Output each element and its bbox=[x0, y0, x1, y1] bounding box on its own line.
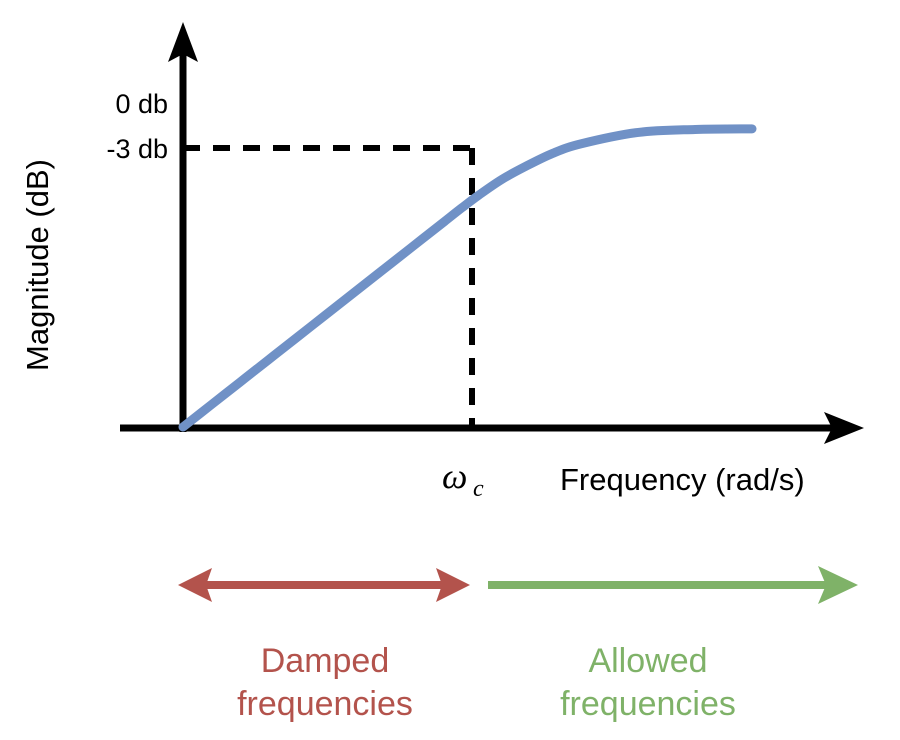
y-tick-label-minus3db: -3 db bbox=[106, 134, 168, 164]
omega-symbol: ω bbox=[442, 456, 467, 496]
y-axis-title: Magnitude (dB) bbox=[20, 159, 55, 371]
damped-label-line1: Damped bbox=[261, 642, 390, 680]
bode-magnitude-figure: 0 db -3 db Magnitude (dB) Frequency (rad… bbox=[0, 0, 900, 740]
allowed-label-line1: Allowed bbox=[588, 642, 707, 680]
omega-subscript: c bbox=[473, 476, 484, 502]
damped-label-line2: frequencies bbox=[237, 685, 413, 723]
y-tick-label-0db: 0 db bbox=[115, 89, 168, 119]
x-axis-title: Frequency (rad/s) bbox=[560, 462, 805, 497]
allowed-label-line2: frequencies bbox=[560, 685, 736, 723]
